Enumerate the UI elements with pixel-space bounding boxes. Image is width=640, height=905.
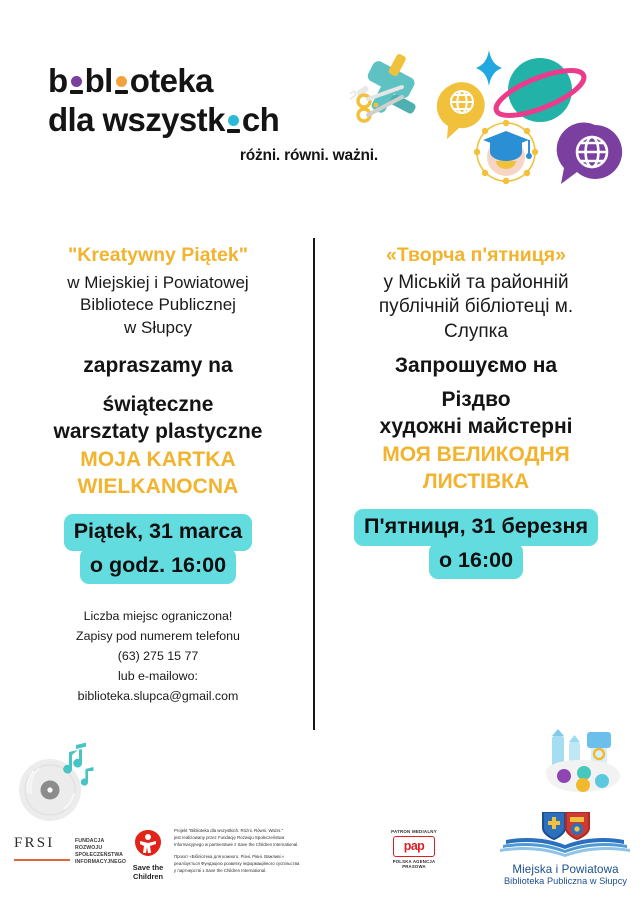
- poster-header: bbloteka dla wszystkch różni. równi. waż…: [0, 0, 640, 215]
- decor-vinyl-group: [12, 735, 132, 825]
- polish-workshop-name-line-1: MOJA KARTKA: [12, 446, 304, 473]
- sparkle-icon: [476, 50, 502, 86]
- brand-dot-purple-icon: [68, 68, 85, 101]
- brand-tagline: różni. równi. ważni.: [48, 147, 378, 165]
- decor-art-supplies-group: [540, 728, 632, 806]
- column-divider: [313, 238, 315, 730]
- polish-venue-line-1: w Miejskiej i Powiatowej: [12, 272, 304, 295]
- ukrainian-date-line-1: П'ятниця, 31 березня: [354, 509, 598, 546]
- polish-venue-line-3: w Słupcy: [12, 317, 304, 340]
- polish-contact-email: biblioteka.slupca@gmail.com: [12, 686, 304, 706]
- decor-top-cluster: [350, 45, 640, 200]
- ukrainian-workshop-line: художні майстерні: [326, 413, 626, 440]
- ukrainian-invite-line-2: Різдво: [326, 386, 626, 413]
- ukrainian-venue-line-2: публічній бібліотеці м.: [326, 295, 626, 320]
- frsi-fullname: FUNDACJA ROZWOJU SPOŁECZEŃSTWA INFORMACY…: [75, 836, 126, 865]
- ukrainian-venue-line-3: Слупка: [326, 320, 626, 345]
- ukrainian-workshop-name-line-2: ЛИСТІВКА: [326, 468, 626, 495]
- brand-line-1: bbloteka: [48, 62, 378, 101]
- frsi-fullname-line-4: INFORMACYJNEGO: [75, 859, 126, 866]
- save-the-children-label: Save the Children: [121, 863, 175, 881]
- graduate-avatar-icon: [474, 120, 538, 184]
- brand-text-bl: bl: [85, 62, 113, 99]
- pap-wordmark: pap: [404, 840, 424, 853]
- disclaimer-pl-line-1: Projekt "Biblioteka dla wszystkich. Różn…: [174, 827, 370, 834]
- planet-icon: [491, 58, 589, 125]
- polish-date-line-1: Piątek, 31 marca: [64, 514, 253, 551]
- polish-workshop-line: warsztaty plastyczne: [12, 418, 304, 445]
- brand-dot-cyan-icon: [225, 107, 242, 140]
- funding-disclaimer: Projekt "Biblioteka dla wszystkich. Różn…: [174, 827, 370, 874]
- disclaimer-uk-line-3: у партнерстві з Save the Children Intern…: [174, 867, 370, 874]
- disclaimer-uk-line-1: Проєкт «Бібліотека для кожного. Різні. Р…: [174, 853, 370, 860]
- poster-canvas: bbloteka dla wszystkch różni. równi. waż…: [0, 0, 640, 905]
- globe-speech-bubble-yellow-icon: [437, 82, 485, 139]
- pap-media-patron: PATRON MEDIALNY pap POLSKA AGENCJA PRASO…: [382, 829, 446, 869]
- disclaimer-pl-line-2: jest realizowany przez Fundację Rozwoju …: [174, 834, 370, 841]
- ukrainian-invite-line-1: Запрошуємо на: [326, 352, 626, 379]
- polish-event-title: "Kreatywny Piątek": [12, 244, 304, 268]
- library-name-line-1: Miejska i Powiatowa: [498, 863, 633, 876]
- frsi-logo: FRSI FUNDACJA ROZWOJU SPOŁECZEŃSTWA INFO…: [14, 836, 126, 865]
- brand-text-dla-wszystk: dla wszystk: [48, 101, 225, 138]
- library-crest-icon: [498, 812, 633, 858]
- save-the-children-mark-icon: [135, 830, 161, 856]
- polish-date-highlight: Piątek, 31 marca o godz. 16:00: [12, 514, 304, 584]
- art-palette-icon: [546, 729, 620, 792]
- stc-label-line-2: Children: [121, 872, 175, 881]
- brand-text-b: b: [48, 62, 68, 99]
- frsi-fullname-line-1: FUNDACJA: [75, 838, 126, 845]
- polish-contact-block: Liczba miejsc ograniczona! Zapisy pod nu…: [12, 606, 304, 706]
- brand-text-ch: ch: [242, 101, 279, 138]
- frsi-wordmark: FRSI: [14, 836, 70, 851]
- column-polish: "Kreatywny Piątek" w Miejskiej i Powiato…: [12, 244, 304, 707]
- disclaimer-pl-line-3: Informacyjnego w partnerstwie z Save the…: [174, 841, 370, 848]
- library-name-line-2: Biblioteka Publiczna w Słupcy: [498, 876, 633, 887]
- frsi-fullname-line-3: SPOŁECZEŃSTWA: [75, 852, 126, 859]
- polish-contact-line-1: Liczba miejsc ograniczona!: [12, 606, 304, 626]
- column-ukrainian: «Творча п'ятниця» у Міській та районній …: [326, 244, 626, 579]
- pap-logo-box: pap: [393, 836, 435, 857]
- save-the-children-logo: Save the Children: [121, 830, 175, 881]
- library-logo: Miejska i Powiatowa Biblioteka Publiczna…: [498, 812, 633, 887]
- brand-logo: bbloteka dla wszystkch różni. równi. waż…: [48, 62, 378, 165]
- globe-speech-bubble-purple-icon: [557, 123, 622, 184]
- ukrainian-workshop-name-line-1: МОЯ ВЕЛИКОДНЯ: [326, 441, 626, 468]
- ukrainian-date-line-2: о 16:00: [429, 543, 523, 580]
- polish-contact-phone: (63) 275 15 77: [12, 646, 304, 666]
- polish-venue-line-2: Bibliotece Publicznej: [12, 294, 304, 317]
- brand-dot-orange-icon: [113, 68, 130, 101]
- pap-kicker-label: PATRON MEDIALNY: [382, 829, 446, 834]
- polish-workshop-name-line-2: WIELKANOCNA: [12, 473, 304, 500]
- frsi-fullname-line-2: ROZWOJU: [75, 845, 126, 852]
- polish-invite-line-2: świąteczne: [12, 391, 304, 418]
- ukrainian-date-highlight: П'ятниця, 31 березня о 16:00: [326, 509, 626, 579]
- brand-line-2: dla wszystkch: [48, 101, 378, 140]
- disclaimer-uk-line-2: реалізується Фундацією розвитку інформац…: [174, 860, 370, 867]
- brand-text-oteka: oteka: [130, 62, 213, 99]
- polish-date-line-2: o godz. 16:00: [80, 548, 236, 585]
- polish-contact-line-4: lub e-mailowo:: [12, 666, 304, 686]
- frsi-rule: [14, 859, 70, 861]
- stc-label-line-1: Save the: [121, 863, 175, 872]
- pap-fullname: POLSKA AGENCJA PRASOWA: [382, 859, 446, 869]
- polish-contact-line-2: Zapisy pod numerem telefonu: [12, 626, 304, 646]
- ukrainian-venue-line-1: у Міській та районній: [326, 271, 626, 296]
- ukrainian-event-title: «Творча п'ятниця»: [326, 244, 626, 268]
- polish-invite-line-1: zapraszamy na: [12, 352, 304, 379]
